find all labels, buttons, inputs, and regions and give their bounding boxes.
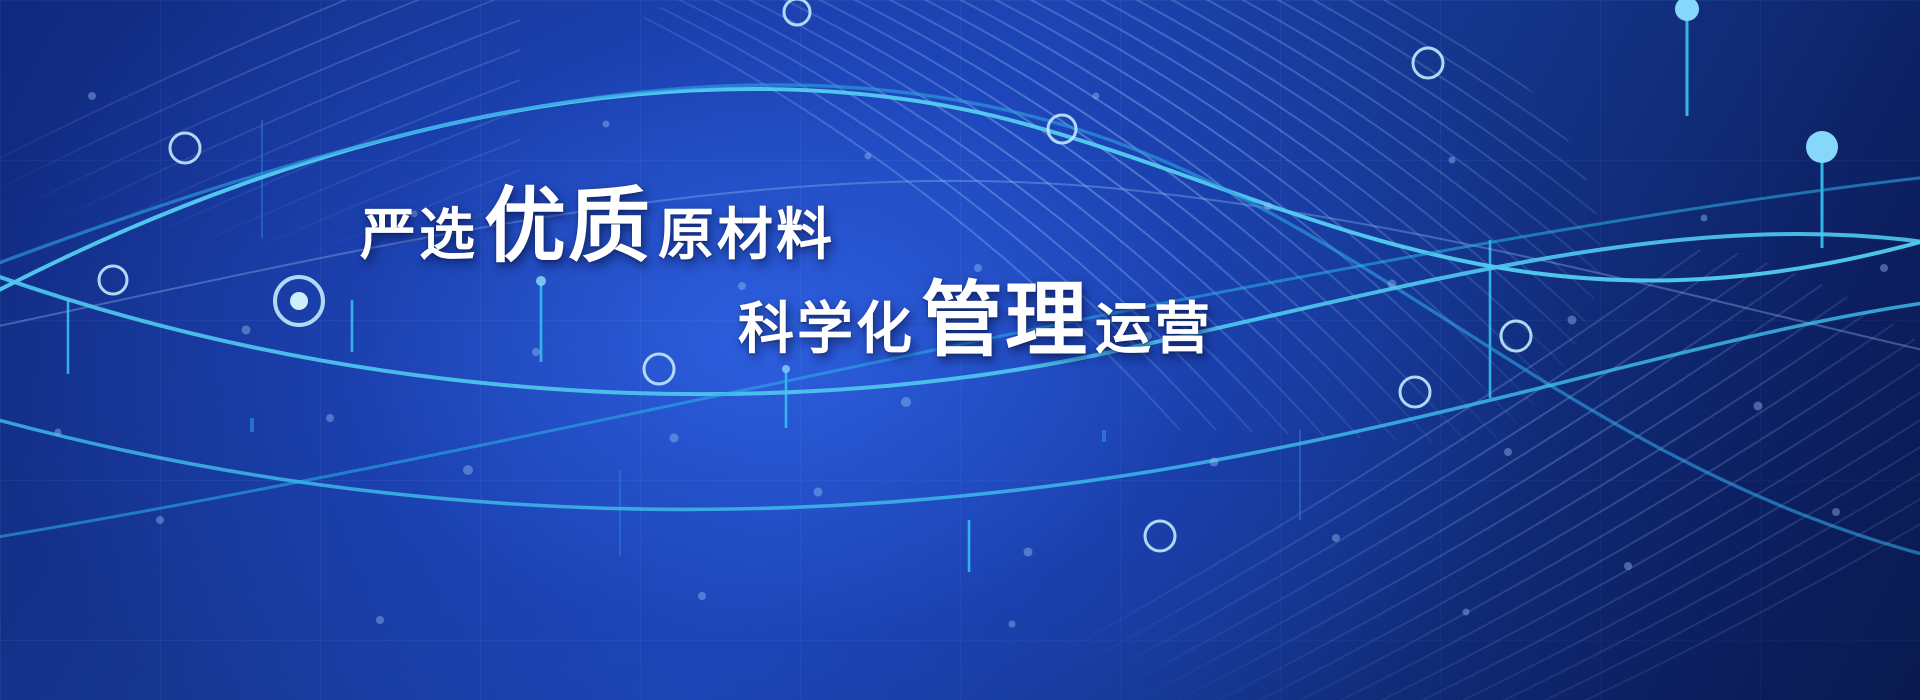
ring-left-upper [170,133,200,163]
ring-far-right [1501,321,1531,351]
ring-mid-lower [644,354,674,384]
ring-upper-mid [1048,115,1076,143]
ring-bottom-mid [1145,521,1175,551]
stem-node-top-right-a [1675,0,1699,21]
node-layer [0,0,1920,700]
stem-node-top-right-b [1806,131,1838,163]
stem-node-mid-left [536,276,546,286]
ring-top-center [784,0,810,25]
ring-left-mid [99,266,127,294]
speck-group [55,92,1889,628]
stem-node-mid-center [782,365,790,373]
ring-top-right [1413,48,1443,78]
promo-banner: 严选 优质 原材料 科学化 管理 运营 [0,0,1920,700]
ring-right-lower [1400,377,1430,407]
ring-left-dot-center-fill [290,292,308,310]
